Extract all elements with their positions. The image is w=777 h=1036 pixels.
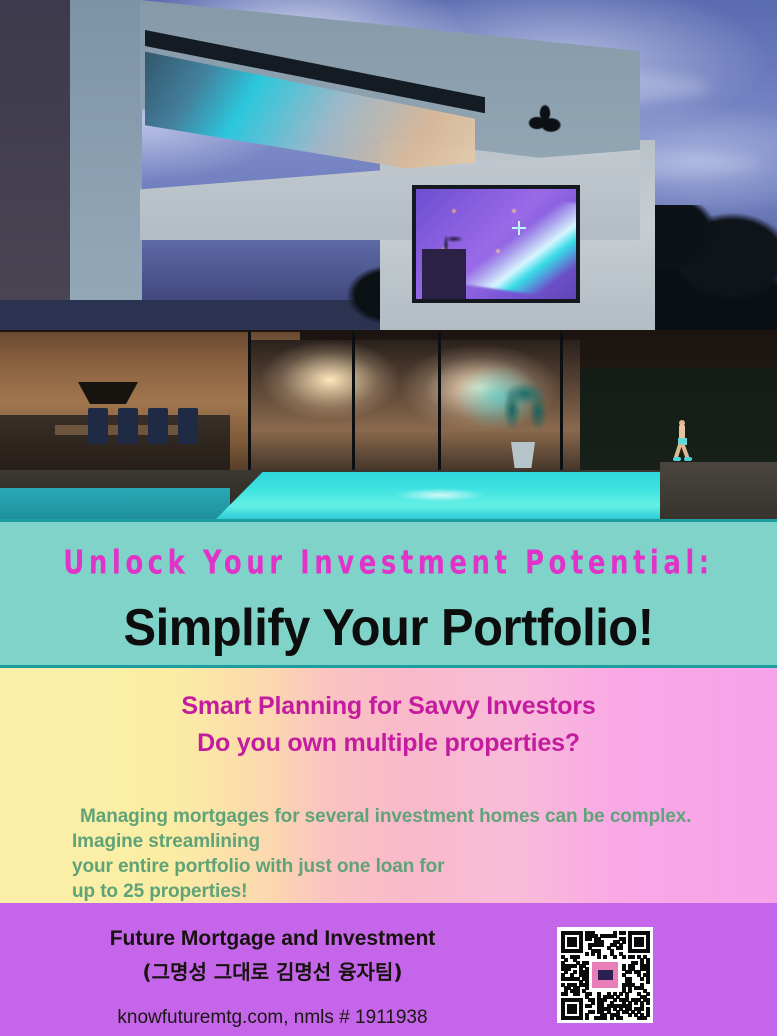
poster: Unlock Your Investment Potential: Simpli… xyxy=(0,0,777,1036)
running-person-icon xyxy=(672,420,692,462)
page-title: Simplify Your Portfolio! xyxy=(23,570,753,658)
footer-text-block: Future Mortgage and Investment (그명성 그대로 … xyxy=(0,903,545,1029)
qr-logo-mark xyxy=(598,970,613,980)
body-line: your entire portfolio with just one loan… xyxy=(72,854,777,879)
company-name: Future Mortgage and Investment xyxy=(0,903,545,951)
building-left-face xyxy=(70,0,142,300)
purple-lit-window xyxy=(412,185,580,303)
window-mullion xyxy=(248,332,251,482)
light-streak xyxy=(462,189,580,301)
chair-icon xyxy=(148,408,168,444)
contact-info[interactable]: knowfuturemtg.com, nmls # 1911938 xyxy=(0,985,545,1029)
footer-band: Future Mortgage and Investment (그명성 그대로 … xyxy=(0,903,777,1036)
body-band: Smart Planning for Savvy Investors Do yo… xyxy=(0,668,777,903)
sparkle-icon xyxy=(512,221,526,235)
body-line: up to 25 properties! xyxy=(72,879,777,904)
chair-icon xyxy=(118,408,138,444)
chair-icon xyxy=(88,408,108,444)
window-mullion xyxy=(560,332,563,482)
subheading-secondary: Do you own multiple properties? xyxy=(0,721,777,758)
pool-reflection xyxy=(380,486,500,504)
window-mullion xyxy=(352,332,355,482)
hero-image xyxy=(0,0,777,519)
palm-silhouette-icon xyxy=(438,231,468,271)
pool-coping xyxy=(660,462,777,519)
body-line: Imagine streamlining xyxy=(72,829,777,854)
qr-logo-icon xyxy=(592,962,618,988)
rooftop-plant-icon xyxy=(525,103,567,133)
subheading-primary: Smart Planning for Savvy Investors xyxy=(0,668,777,721)
qr-code[interactable] xyxy=(557,927,653,1023)
headline-band: Unlock Your Investment Potential: Simpli… xyxy=(0,519,777,668)
pool-water-left xyxy=(0,488,230,519)
body-line: Managing mortgages for several investmen… xyxy=(72,804,777,829)
runner-shoe xyxy=(673,457,681,461)
runner-shoe xyxy=(684,457,692,461)
building-left-wall xyxy=(0,0,72,300)
chair-icon xyxy=(178,408,198,444)
qr-code-matrix xyxy=(561,931,649,1019)
company-name-korean: (그명성 그대로 김명선 융자팀) xyxy=(0,951,545,985)
body-copy: Managing mortgages for several investmen… xyxy=(0,758,777,904)
window-mullion xyxy=(438,332,441,482)
